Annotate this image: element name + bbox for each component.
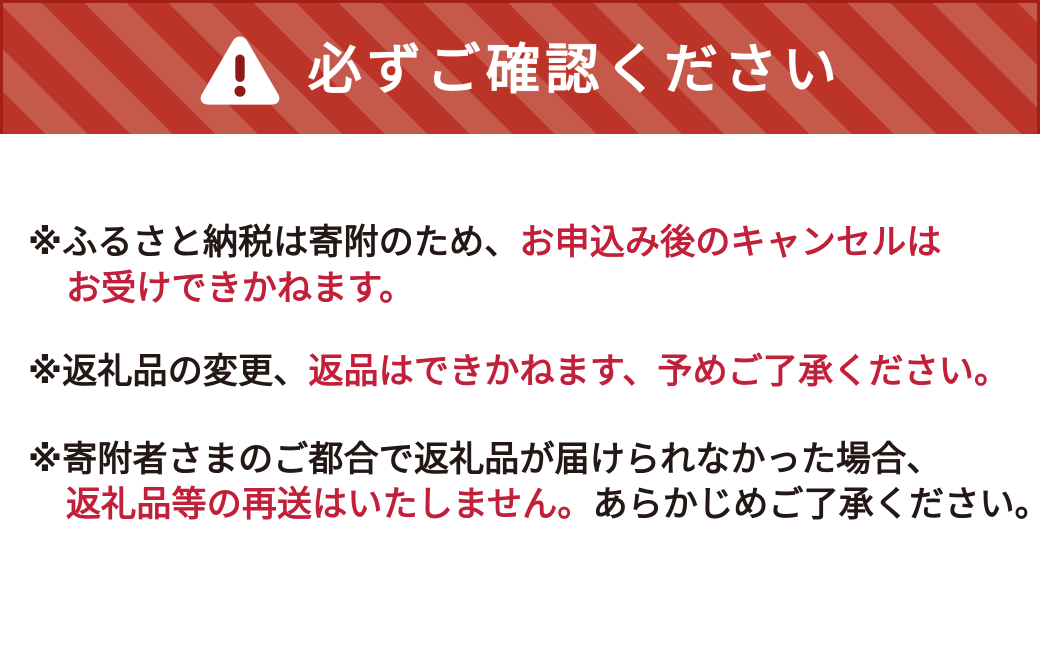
notice-line: お受けできかねます。 [28,266,1018,312]
warning-triangle-icon [198,34,282,106]
notice-header-banner: 必ずご確認ください [0,0,1040,134]
notice-item-exchange-return: ※返礼品の変更、返品はできかねます、予めご了承ください。 [28,349,1018,395]
page-title: 必ずご確認ください [308,43,843,97]
notice-text-black: ※返礼品の変更、 [28,352,308,391]
notice-text-black: あらかじめご了承ください。 [593,485,1040,524]
header-inner: 必ずご確認ください [198,34,843,106]
notice-line: 返礼品等の再送はいたしません。あらかじめご了承ください。 [28,482,1018,528]
notice-item-redelivery: ※寄附者さまのご都合で返礼品が届けられなかった場合、 返礼品等の再送はいたしませ… [28,437,1018,528]
notice-body: ※ふるさと納税は寄附のため、お申込み後のキャンセルは お受けできかねます。 ※返… [0,134,1040,528]
notice-card: 必ずご確認ください ※ふるさと納税は寄附のため、お申込み後のキャンセルは お受け… [0,0,1040,646]
notice-text-black: ※寄附者さまのご都合で返礼品が届けられなかった場合、 [28,440,942,479]
notice-text-red: お申込み後のキャンセルは [519,223,941,262]
notice-item-cancellation: ※ふるさと納税は寄附のため、お申込み後のキャンセルは お受けできかねます。 [28,220,1018,311]
notice-text-black: ※ふるさと納税は寄附のため、 [28,223,519,262]
notice-line: ※ふるさと納税は寄附のため、お申込み後のキャンセルは [28,220,1018,266]
notice-text-red: 返礼品等の再送はいたしません。 [66,485,593,524]
notice-line: ※寄附者さまのご都合で返礼品が届けられなかった場合、 [28,437,1018,483]
notice-text-red: 返品はできかねます、予めご了承ください。 [308,352,1009,391]
notice-line: ※返礼品の変更、返品はできかねます、予めご了承ください。 [28,349,1018,395]
notice-text-red: お受けできかねます。 [66,269,414,308]
